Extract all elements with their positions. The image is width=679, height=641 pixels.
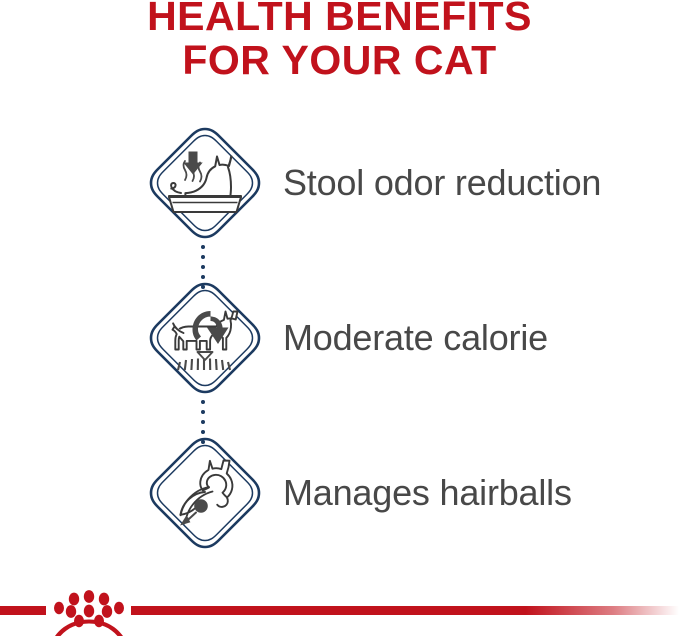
- page-title: HEALTH BENEFITS FOR YOUR CAT: [0, 0, 679, 82]
- health-benefits-poster: HEALTH BENEFITS FOR YOUR CAT: [0, 0, 679, 641]
- benefits-list: Stool odor reduction: [0, 123, 679, 588]
- list-item-label: Moderate calorie: [283, 278, 548, 398]
- page-title-line-1: HEALTH BENEFITS: [0, 0, 679, 38]
- list-item-label: Stool odor reduction: [283, 123, 601, 243]
- connector-dot: [201, 255, 205, 259]
- cat-litter-box-odor-icon: [145, 123, 265, 243]
- brand-bar-right-segment: [131, 606, 679, 615]
- connector-dot: [201, 420, 205, 424]
- list-item: Moderate calorie: [0, 278, 679, 433]
- connector-dot: [201, 400, 205, 404]
- footer-brand-bar: [0, 579, 679, 641]
- connector-dot: [201, 265, 205, 269]
- cat-hairball-management-icon: [145, 433, 265, 553]
- list-item: Stool odor reduction: [0, 123, 679, 278]
- brand-bar-left-segment: [0, 606, 46, 615]
- cat-moderate-calorie-scale-icon: [145, 278, 265, 398]
- connector-dots: [201, 245, 209, 281]
- connector-dot: [201, 245, 205, 249]
- list-item: Manages hairballs: [0, 433, 679, 588]
- connector-dots: [201, 400, 209, 436]
- connector-dot: [201, 410, 205, 414]
- royal-canin-crown-logo: [46, 584, 132, 636]
- page-title-line-2: FOR YOUR CAT: [0, 38, 679, 82]
- list-item-label: Manages hairballs: [283, 433, 572, 553]
